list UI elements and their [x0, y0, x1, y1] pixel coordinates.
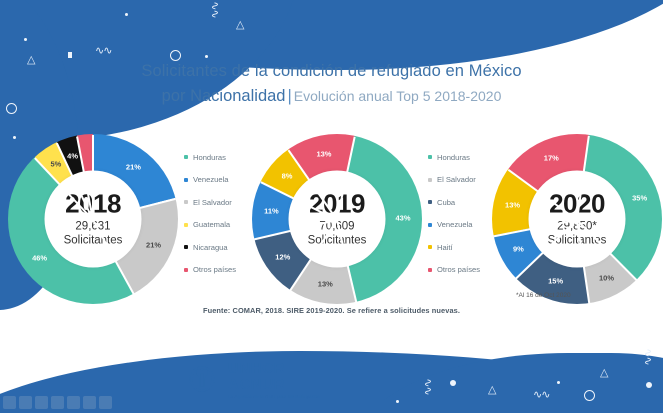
- legend-label: Nicaragua: [193, 243, 228, 252]
- legend-label: Venezuela: [193, 175, 228, 184]
- page-title-line2: por Nacionalidad|Evolución anual Top 5 2…: [0, 87, 663, 106]
- legend-bullet-icon: [184, 223, 188, 227]
- page-subtitle-main: por Nacionalidad: [162, 87, 286, 105]
- infographic-canvas: ∿∿ ∿∿ △ △ ∿∿ △ ∿∿ △ ∿∿ Solicitantes de l…: [0, 0, 663, 413]
- zoom-out-icon[interactable]: [19, 396, 32, 409]
- decor-zigzag: ∿∿: [209, 1, 222, 17]
- decor-zigzag: ∿∿: [642, 348, 655, 364]
- segment-percent-label: 12%: [275, 252, 290, 261]
- chart-2018: 2018 29,631 Solicitantes 21%21%46%5%4% H…: [8, 132, 273, 304]
- decor-dot: [557, 381, 560, 384]
- chart-2020: 2020 29,850* Solicitantes 35%10%15%9%13%…: [492, 132, 663, 304]
- legend-2019: HondurasEl SalvadorCubaVenezuelaHaitíOtr…: [428, 146, 480, 281]
- segment-divider: [92, 135, 94, 220]
- logo-line-acnur: ACNUR: [228, 377, 320, 392]
- legend-item[interactable]: Honduras: [428, 146, 480, 169]
- donut-ring-2018: 2018 29,631 Solicitantes 21%21%46%5%4%: [8, 134, 178, 304]
- logo-tagline: La Agencia de la ONU para los Refugiados: [228, 395, 320, 400]
- legend-label: Cuba: [437, 198, 455, 207]
- decor-zigzag: ∿∿: [533, 388, 549, 401]
- viewer-toolbar[interactable]: [0, 391, 163, 413]
- charts-row: 2018 29,631 Solicitantes 21%21%46%5%4% H…: [0, 132, 663, 304]
- legend-bullet-icon: [428, 155, 432, 159]
- legend-label: Otros países: [437, 265, 480, 274]
- decor-dot: [125, 13, 128, 16]
- legend-item[interactable]: Guatemala: [184, 214, 236, 237]
- title-separator: |: [285, 87, 293, 105]
- legend-item[interactable]: Nicaragua: [184, 236, 236, 259]
- asterisk-note: *Al 16 de Oct 2020: [516, 292, 571, 299]
- decor-square: [68, 52, 72, 58]
- decor-dot: [396, 400, 399, 403]
- legend-item[interactable]: Venezuela: [184, 169, 236, 192]
- legend-bullet-icon: [184, 200, 188, 204]
- legend-bullet-icon: [428, 268, 432, 272]
- legend-item[interactable]: Otros países: [184, 259, 236, 282]
- segment-percent-label: 13%: [505, 200, 520, 209]
- legend-item[interactable]: El Salvador: [184, 191, 236, 214]
- legend-item[interactable]: El Salvador: [428, 169, 480, 192]
- segment-percent-label: 46%: [32, 253, 47, 262]
- segment-percent-label: 43%: [395, 214, 410, 223]
- segment-percent-label: 11%: [264, 207, 279, 216]
- segment-percent-label: 35%: [632, 194, 647, 203]
- fit-icon[interactable]: [67, 396, 80, 409]
- decor-ring: [584, 390, 595, 401]
- legend-label: Haití: [437, 243, 453, 252]
- decor-dot: [24, 38, 27, 41]
- unhcr-emblem-icon: [183, 361, 221, 399]
- unhcr-logo: UNHCR ACNUR La Agencia de la ONU para lo…: [183, 361, 320, 399]
- segment-percent-label: 13%: [318, 279, 333, 288]
- legend-bullet-icon: [428, 245, 432, 249]
- donut-count-label: Solicitantes: [308, 234, 367, 247]
- legend-bullet-icon: [428, 223, 432, 227]
- title-block: Solicitantes de la condición de refugiad…: [0, 62, 663, 106]
- legend-label: El Salvador: [193, 198, 232, 207]
- legend-item[interactable]: Otros países: [428, 259, 480, 282]
- decor-dot: [450, 380, 456, 386]
- segment-percent-label: 21%: [126, 162, 141, 171]
- donut-count-label: Solicitantes: [64, 234, 123, 247]
- decor-dot: [646, 382, 652, 388]
- unhcr-wordmark: UNHCR ACNUR La Agencia de la ONU para lo…: [228, 361, 320, 399]
- more-icon[interactable]: [99, 396, 112, 409]
- legend-label: Honduras: [437, 153, 470, 162]
- logo-line-unhcr: UNHCR: [228, 361, 320, 376]
- page-subtitle-detail: Evolución anual Top 5 2018-2020: [294, 88, 502, 104]
- segment-percent-label: 9%: [513, 245, 524, 254]
- source-note: Fuente: COMAR, 2018. SIRE 2019-2020. Se …: [0, 306, 663, 315]
- donut-ring-2020: 2020 29,850* Solicitantes 35%10%15%9%13%…: [492, 134, 662, 304]
- segment-percent-label: 13%: [316, 150, 331, 159]
- segment-percent-label: 17%: [544, 154, 559, 163]
- legend-bullet-icon: [428, 200, 432, 204]
- segment-percent-label: 10%: [599, 274, 614, 283]
- segment-percent-label: 8%: [282, 171, 293, 180]
- legend-item[interactable]: Venezuela: [428, 214, 480, 237]
- rotate-icon[interactable]: [83, 396, 96, 409]
- segment-percent-label: 4%: [67, 152, 78, 161]
- legend-label: Otros países: [193, 265, 236, 274]
- legend-item[interactable]: Honduras: [184, 146, 236, 169]
- legend-bullet-icon: [184, 245, 188, 249]
- decor-zigzag: ∿∿: [422, 378, 435, 394]
- page-title-line1: Solicitantes de la condición de refugiad…: [0, 62, 663, 81]
- legend-bullet-icon: [184, 155, 188, 159]
- legend-item[interactable]: Haití: [428, 236, 480, 259]
- decor-dot: [205, 55, 208, 58]
- legend-label: Venezuela: [437, 220, 472, 229]
- decor-zigzag: ∿∿: [95, 44, 111, 57]
- legend-label: Guatemala: [193, 220, 230, 229]
- legend-label: Honduras: [193, 153, 226, 162]
- page-icon[interactable]: [3, 396, 16, 409]
- segment-percent-label: 15%: [548, 277, 563, 286]
- legend-label: El Salvador: [437, 175, 476, 184]
- zoom-in-icon[interactable]: [35, 396, 48, 409]
- search-icon[interactable]: [51, 396, 64, 409]
- legend-bullet-icon: [428, 178, 432, 182]
- legend-bullet-icon: [184, 178, 188, 182]
- decor-ring: [170, 50, 181, 61]
- legend-2018: HondurasVenezuelaEl SalvadorGuatemalaNic…: [184, 146, 236, 281]
- segment-percent-label: 5%: [50, 160, 61, 169]
- segment-percent-label: 21%: [146, 241, 161, 250]
- legend-item[interactable]: Cuba: [428, 191, 480, 214]
- legend-bullet-icon: [184, 268, 188, 272]
- donut-ring-2019: 2019 70,609 Solicitantes 43%13%12%11%8%1…: [252, 134, 422, 304]
- chart-2019: 2019 70,609 Solicitantes 43%13%12%11%8%1…: [252, 132, 517, 304]
